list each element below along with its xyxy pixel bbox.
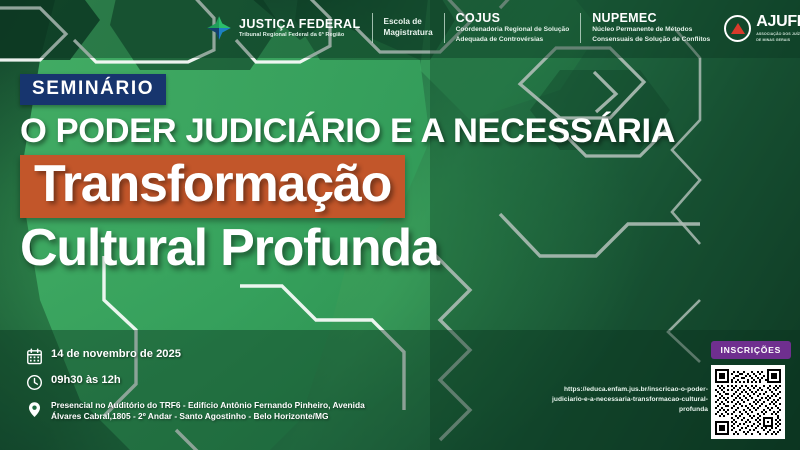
registration-block: INSCRIÇÕES: [711, 340, 791, 439]
seminar-poster: JUSTIÇA FEDERAL Tribunal Regional Federa…: [0, 0, 800, 450]
registration-url-line3: profunda: [530, 405, 708, 415]
nupemec-title: NUPEMEC: [592, 12, 710, 26]
location-pin-icon: [26, 401, 43, 418]
event-time: 09h30 às 12h: [51, 374, 121, 387]
ajufemg-title: AJUFEMG: [756, 14, 800, 30]
event-date: 14 de novembro de 2025: [51, 348, 181, 361]
nupemec-sub-line1: Núcleo Permanente de Métodos: [592, 26, 710, 35]
cojus-sub-line2: Adequada de Controvérsias: [456, 36, 570, 45]
title-block: SEMINÁRIO O PODER JUDICIÁRIO E A NECESSÁ…: [20, 74, 675, 274]
qr-code[interactable]: [711, 365, 785, 439]
logo-divider-3: [580, 13, 581, 43]
nupemec-sub-line2: Consensuais de Solução de Conflitos: [592, 36, 710, 45]
cojus-sub-line1: Coordenadoria Regional de Solução: [456, 26, 570, 35]
cojus-title: COJUS: [456, 12, 570, 26]
clock-icon: [26, 374, 43, 391]
ajufemg-triangle-icon: [724, 15, 751, 42]
title-highlight-text: Transformação: [34, 158, 391, 210]
ajufemg-sub-line2: DE MINAS GERAIS: [756, 38, 800, 42]
event-location-line1: Presencial no Auditório do TRF6 - Edifíc…: [51, 400, 365, 411]
calendar-icon: [26, 348, 43, 365]
logo-cojus: COJUS Coordenadoria Regional de Solução …: [456, 12, 570, 45]
logo-justica-federal: JUSTIÇA FEDERAL Tribunal Regional Federa…: [206, 15, 361, 41]
title-highlight-box: Transformação: [20, 155, 405, 218]
header-logo-strip: JUSTIÇA FEDERAL Tribunal Regional Federa…: [0, 0, 800, 56]
escola-line2: Magistratura: [384, 28, 433, 39]
title-line-3: Cultural Profunda: [20, 222, 675, 274]
logo-divider-2: [444, 13, 445, 43]
logo-ajufemg: AJUFEMG ASSOCIAÇÃO DOS JUÍZES FEDERAIS D…: [724, 14, 800, 43]
info-row-date: 14 de novembro de 2025: [26, 348, 386, 365]
event-info: 14 de novembro de 2025 09h30 às 12h Pres…: [26, 348, 386, 432]
registration-url-line2: judiciario-e-a-necessaria-transformacao-…: [530, 395, 708, 405]
logo-escola-magistratura: Escola de Magistratura: [384, 17, 433, 38]
title-line-1: O PODER JUDICIÁRIO E A NECESSÁRIA: [20, 114, 675, 149]
justica-federal-cross-icon: [206, 15, 232, 41]
escola-line1: Escola de: [384, 17, 433, 28]
ajufemg-sub-line1: ASSOCIAÇÃO DOS JUÍZES FEDERAIS: [756, 32, 800, 36]
justica-federal-title: JUSTIÇA FEDERAL: [239, 18, 361, 31]
logo-divider-1: [372, 13, 373, 43]
info-row-time: 09h30 às 12h: [26, 374, 386, 391]
inscricoes-badge: INSCRIÇÕES: [711, 341, 791, 359]
registration-url[interactable]: https://educa.enfam.jus.br/inscricao-o-p…: [530, 385, 708, 415]
logo-nupemec: NUPEMEC Núcleo Permanente de Métodos Con…: [592, 12, 710, 45]
registration-url-line1: https://educa.enfam.jus.br/inscricao-o-p…: [530, 385, 708, 395]
justica-federal-subtitle: Tribunal Regional Federal da 6ª Região: [239, 32, 361, 39]
event-location-line2: Álvares Cabral,1805 - 2º Andar - Santo A…: [51, 411, 365, 422]
info-row-location: Presencial no Auditório do TRF6 - Edifíc…: [26, 400, 386, 423]
seminario-badge: SEMINÁRIO: [20, 74, 166, 105]
